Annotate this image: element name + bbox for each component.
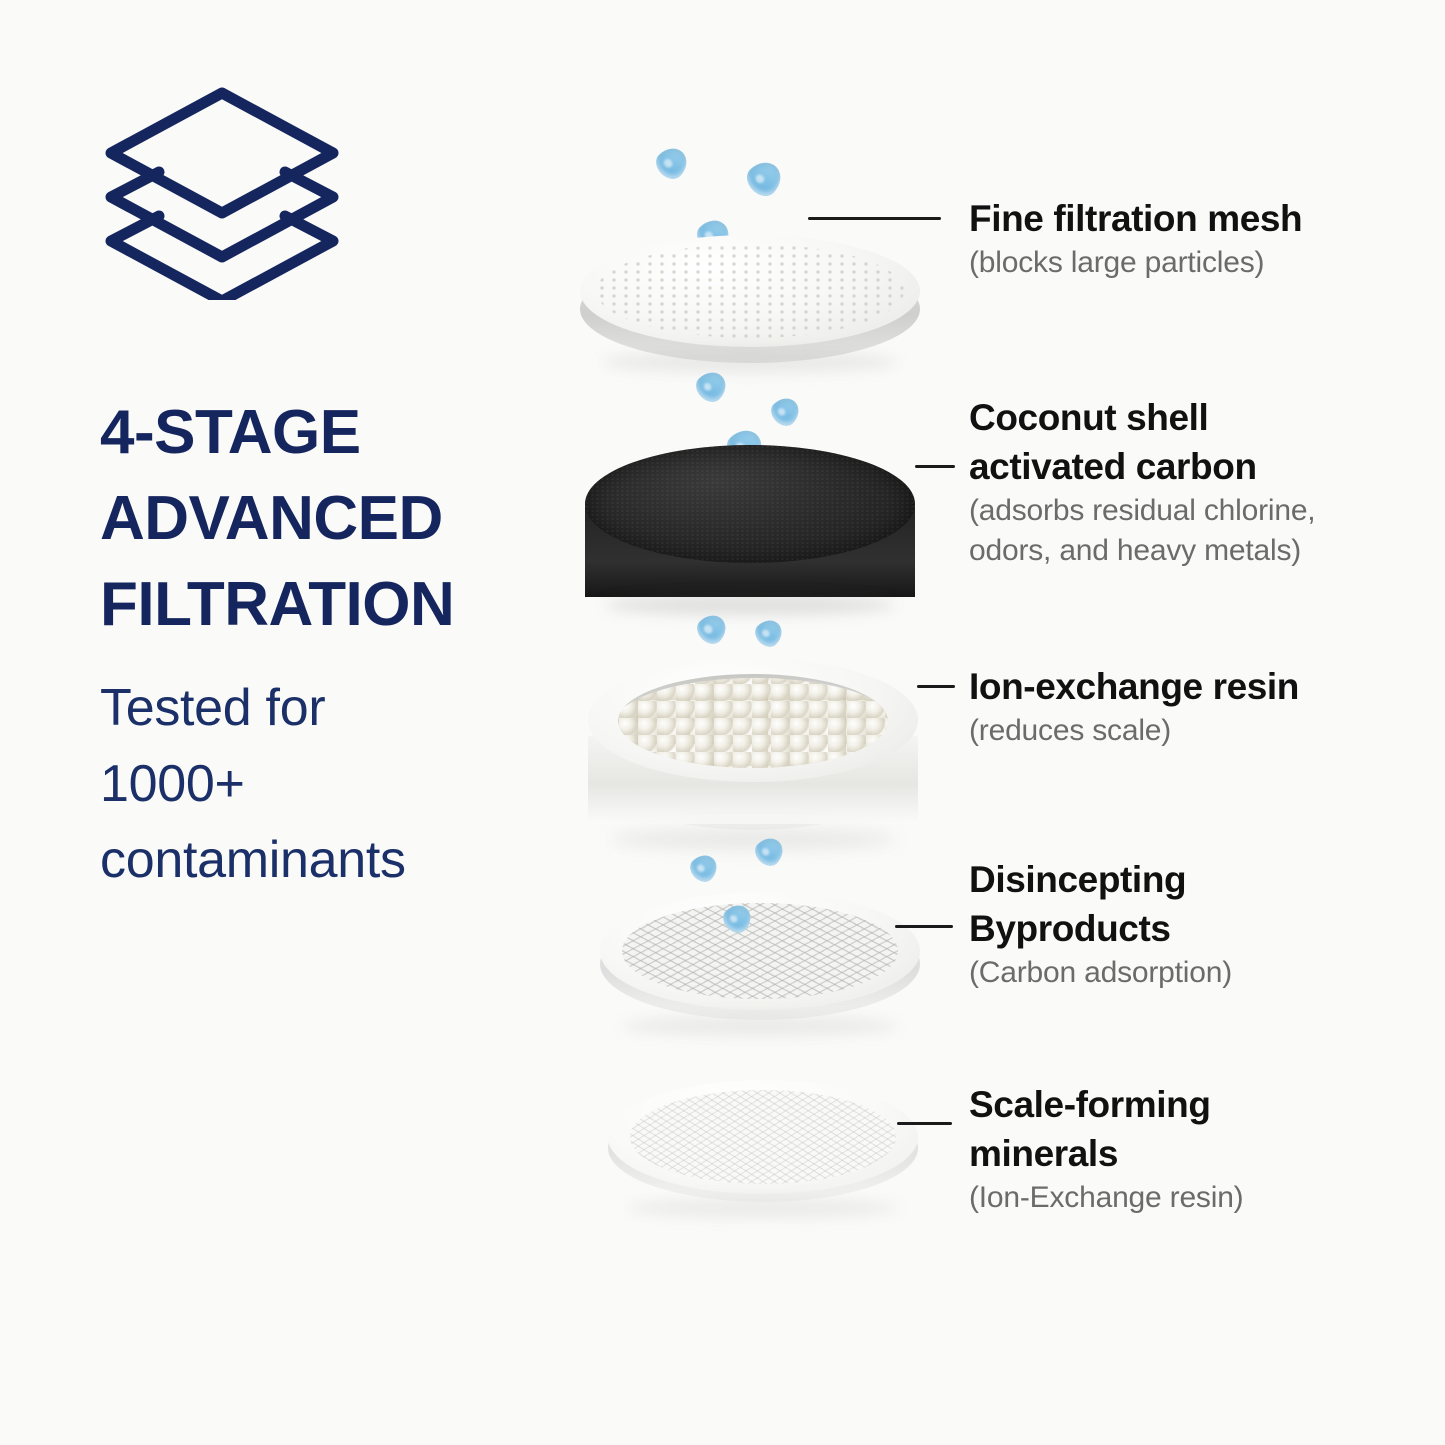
- label-title-line-2: minerals: [969, 1129, 1243, 1178]
- label-disincepting-byproducts: Disincepting Byproducts (Carbon adsorpti…: [969, 855, 1232, 993]
- leader-line-disincepting-byproducts: [895, 925, 953, 928]
- stacked-layers-icon: [100, 75, 345, 300]
- label-subtitle-line-1: (adsorbs residual chlorine,: [969, 491, 1315, 531]
- subtitle-line-3: contaminants: [100, 822, 540, 898]
- headline-line-3: FILTRATION: [100, 562, 540, 648]
- leader-line-activated-carbon: [915, 465, 955, 468]
- label-subtitle-line-2: odors, and heavy metals): [969, 531, 1315, 571]
- layer-disc-woven-mineral: [608, 1080, 918, 1225]
- exploded-filter-diagram: [560, 60, 960, 1280]
- label-title: Ion-exchange resin: [969, 662, 1299, 711]
- woven-pattern: [630, 1090, 896, 1184]
- label-title-line-1: Scale-forming: [969, 1080, 1243, 1129]
- layer-disc-fine-mesh: [580, 235, 920, 370]
- label-title: Fine filtration mesh: [969, 194, 1302, 243]
- label-title-line-1: Disincepting: [969, 855, 1232, 904]
- label-subtitle: (Carbon adsorption): [969, 953, 1232, 993]
- water-droplet: [751, 615, 788, 652]
- label-scale-forming-minerals: Scale-forming minerals (Ion-Exchange res…: [969, 1080, 1243, 1218]
- label-activated-carbon: Coconut shell activated carbon (adsorbs …: [969, 393, 1315, 571]
- label-subtitle: (blocks large particles): [969, 243, 1302, 283]
- water-droplet: [741, 155, 788, 202]
- crosshatch-pattern: [622, 903, 898, 999]
- leader-line-ion-exchange-resin: [917, 685, 955, 688]
- subtitle-line-1: Tested for: [100, 670, 540, 746]
- carbon-grain-texture: [585, 445, 915, 563]
- layer-disc-crosshatch-mesh: [600, 892, 920, 1042]
- water-droplet: [651, 142, 693, 184]
- subtitle-line-2: 1000+: [100, 746, 540, 822]
- leader-line-fine-mesh: [808, 217, 941, 220]
- label-ion-exchange-resin: Ion-exchange resin (reduces scale): [969, 662, 1299, 751]
- layer-disc-activated-carbon: [585, 445, 915, 610]
- page-title: 4-STAGE ADVANCED FILTRATION: [100, 390, 540, 648]
- label-subtitle: (Ion-Exchange resin): [969, 1178, 1243, 1218]
- layer-disc-resin-tray: [588, 658, 918, 858]
- label-title-line-1: Coconut shell: [969, 393, 1315, 442]
- page-subtitle: Tested for 1000+ contaminants: [100, 670, 540, 898]
- label-title-line-2: Byproducts: [969, 904, 1232, 953]
- headline-line-1: 4-STAGE: [100, 390, 540, 476]
- left-text-column: 4-STAGE ADVANCED FILTRATION Tested for 1…: [100, 75, 540, 898]
- leader-line-scale-forming-minerals: [897, 1122, 952, 1125]
- infographic-canvas: 4-STAGE ADVANCED FILTRATION Tested for 1…: [0, 0, 1445, 1445]
- perforation-pattern: [596, 244, 904, 338]
- water-droplet: [766, 392, 804, 430]
- label-subtitle: (reduces scale): [969, 711, 1299, 751]
- label-fine-filtration-mesh: Fine filtration mesh (blocks large parti…: [969, 194, 1302, 283]
- water-droplet: [692, 609, 732, 649]
- label-title-line-2: activated carbon: [969, 442, 1315, 491]
- headline-line-2: ADVANCED: [100, 476, 540, 562]
